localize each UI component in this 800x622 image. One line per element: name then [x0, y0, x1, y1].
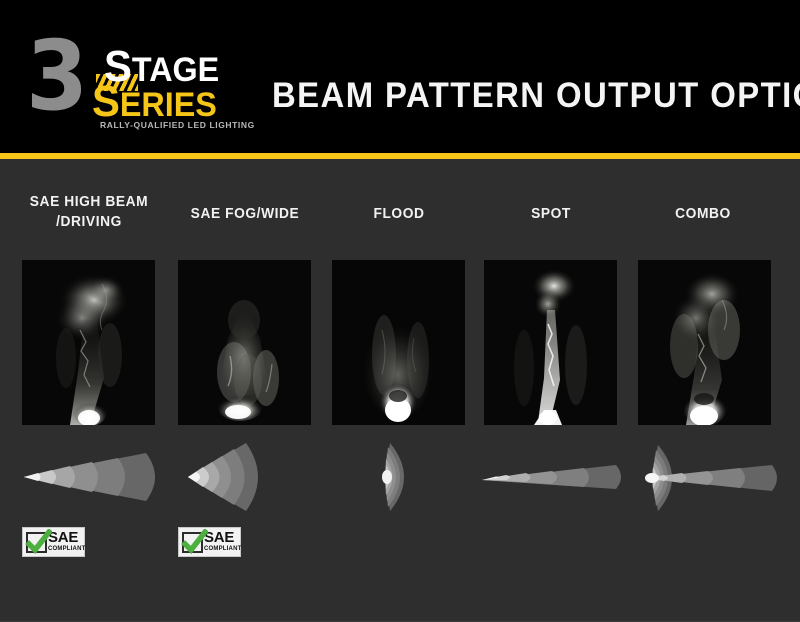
logo-tagline: RALLY-QUALIFIED LED LIGHTING — [100, 120, 255, 130]
beam-diagram-shape-5 — [630, 443, 785, 513]
badge-text: SAE COMPLIANT — [48, 531, 85, 553]
badge-subtitle: COMPLIANT — [204, 545, 241, 553]
page-title: BEAM PATTERN OUTPUT OPTIONS — [272, 78, 800, 113]
column-label-sae-fog-wide: SAE FOG/WIDE — [178, 204, 313, 224]
accent-divider-bar — [0, 153, 800, 159]
badge-text: SAE COMPLIANT — [204, 531, 241, 553]
beam-photo-spot — [484, 260, 617, 425]
sae-compliant-badge-sae-fog-wide: SAE COMPLIANT — [178, 527, 241, 557]
logo-word-stage: STAGE — [104, 50, 219, 87]
beam-pattern-infographic: 3 STAGE SERIES RALLY-QUALIFIED LED LIGHT… — [0, 0, 800, 622]
column-label-sae-high-beam-driving: SAE HIGH BEAM /DRIVING — [22, 192, 157, 232]
column-label-combo: COMBO — [636, 204, 771, 224]
beam-photo-artwork-5 — [638, 260, 771, 425]
beam-diagram-shape-4 — [478, 443, 628, 513]
header-bar: 3 STAGE SERIES RALLY-QUALIFIED LED LIGHT… — [0, 0, 800, 153]
beam-diagram-combo — [630, 443, 780, 513]
beam-photo-artwork-3 — [332, 260, 465, 425]
badge-subtitle: COMPLIANT — [48, 545, 85, 553]
check-icon — [25, 529, 52, 556]
logo-word-series: SERIES — [92, 85, 217, 122]
beam-photo-artwork-4 — [484, 260, 617, 425]
beam-diagram-sae-high-beam-driving — [18, 443, 168, 513]
beam-photo-sae-high-beam-driving — [22, 260, 155, 425]
sae-compliant-badge-sae-high-beam-driving: SAE COMPLIANT — [22, 527, 85, 557]
beam-diagram-spot — [478, 443, 628, 513]
checkbox-outline — [182, 532, 203, 553]
beam-diagram-shape-2 — [172, 443, 322, 513]
beam-photo-flood — [332, 260, 465, 425]
check-icon — [181, 529, 208, 556]
column-label-spot: SPOT — [484, 204, 619, 224]
beam-diagram-shape-3 — [330, 443, 480, 513]
beam-photo-artwork-2 — [178, 260, 311, 425]
badge-title: SAE — [204, 531, 241, 545]
diode-dynamics-stage-series-logo: 3 STAGE SERIES RALLY-QUALIFIED LED LIGHT… — [26, 28, 256, 138]
beam-photo-combo — [638, 260, 771, 425]
column-label-flood: FLOOD — [332, 204, 467, 224]
beam-diagram-shape-1 — [18, 443, 168, 513]
beam-photo-artwork-1 — [22, 260, 155, 425]
beam-photo-sae-fog-wide — [178, 260, 311, 425]
logo-numeral-3: 3 — [26, 28, 84, 124]
badge-title: SAE — [48, 531, 85, 545]
beam-diagram-flood — [330, 443, 480, 513]
beam-diagram-sae-fog-wide — [172, 443, 322, 513]
checkbox-outline — [26, 532, 47, 553]
